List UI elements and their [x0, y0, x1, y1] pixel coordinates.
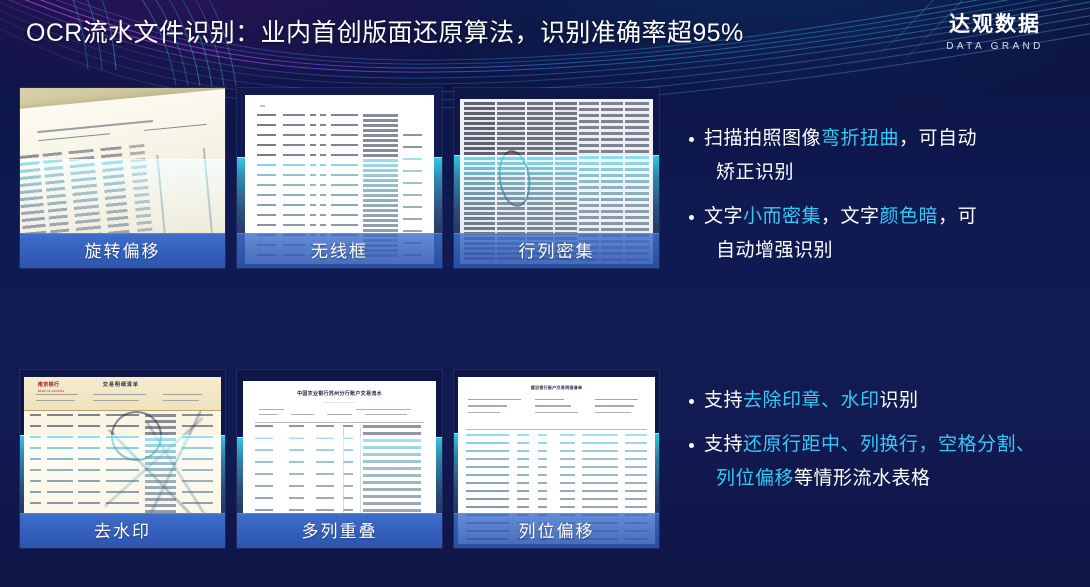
bullet-text-plain: 扫描拍照图像	[704, 128, 821, 149]
card-caption: 去水印	[20, 513, 225, 548]
bullet-line: 矫正识别	[704, 156, 1080, 190]
slide-header: OCR流水文件识别：业内首创版面还原算法，识别准确率超95% 达观数据 DATA…	[0, 0, 1090, 72]
page-title: OCR流水文件识别：业内首创版面还原算法，识别准确率超95%	[26, 17, 744, 50]
bullet-line: 列位偏移等情形流水表格	[704, 462, 1080, 496]
card-caption: 行列密集	[454, 233, 659, 268]
brand-logo: 达观数据 DATA GRAND	[920, 12, 1070, 55]
bullet-text-highlight: 列位偏移	[716, 468, 794, 489]
bullet-group-bottom: 支持去除印章、水印识别 支持还原行距中、列换行，空格分割、 列位偏移等情形流水表…	[688, 384, 1080, 506]
card-caption: 无线框	[237, 233, 442, 268]
bullet-text-plain: 矫正识别	[716, 162, 794, 183]
bullet-text-highlight: 去除印章、水印	[743, 390, 880, 411]
sample-card-overlapping-columns[interactable]: 中国农业银行苏州分行账户交易流水 ___________________	[237, 370, 442, 548]
bullet-text-highlight: 还原行距中、列换行，空格分割、	[743, 434, 1036, 455]
bullet-item-1: 文字小而密集，文字颜色暗，可 自动增强识别	[688, 200, 1080, 268]
bullet-item-2: 支持去除印章、水印识别	[688, 384, 1080, 418]
bullet-line: 支持去除印章、水印识别	[704, 384, 1080, 418]
bullet-text-highlight: 弯折扭曲	[821, 128, 899, 149]
thumb-bank-name-en: BANK OF NANJING	[38, 390, 65, 393]
bullet-group-top: 扫描拍照图像弯折扭曲，可自动 矫正识别 文字小而密集，文字颜色暗，可 自动增强识…	[688, 122, 1080, 278]
bullet-text-plain: 自动增强识别	[716, 240, 833, 261]
bullet-text-plain: 支持	[704, 434, 743, 455]
bullet-text-plain: ，可自动	[899, 128, 977, 149]
bullet-item-3: 支持还原行距中、列换行，空格分割、 列位偏移等情形流水表格	[688, 428, 1080, 496]
bullet-text-plain: ，文字	[821, 206, 880, 227]
bullet-text-plain: 识别	[880, 390, 919, 411]
thumb-bank-name-cn: 南京银行	[38, 381, 60, 388]
bullet-line: 支持还原行距中、列换行，空格分割、	[704, 428, 1080, 462]
card-caption: 列位偏移	[454, 513, 659, 548]
brand-name-en: DATA GRAND	[920, 39, 1070, 55]
bullet-text-highlight: 颜色暗	[880, 206, 939, 227]
sample-card-column-shift[interactable]: 建设银行账户交易明细清单	[454, 370, 659, 548]
thumb-abc-title: 中国农业银行苏州分行账户交易流水	[243, 390, 436, 397]
card-caption: 旋转偏移	[20, 233, 225, 268]
sample-card-borderless-table[interactable]: 无线框	[237, 88, 442, 268]
sample-card-remove-watermark[interactable]: 南京银行 BANK OF NANJING 交易明细清单	[20, 370, 225, 548]
bullet-item-0: 扫描拍照图像弯折扭曲，可自动 矫正识别	[688, 122, 1080, 190]
bullet-text-plain: 文字	[704, 206, 743, 227]
card-caption: 多列重叠	[237, 513, 442, 548]
sample-card-rotation-offset[interactable]: 旋转偏移	[20, 88, 225, 268]
bullet-line: 扫描拍照图像弯折扭曲，可自动	[704, 122, 1080, 156]
slide-root: OCR流水文件识别：业内首创版面还原算法，识别准确率超95% 达观数据 DATA…	[0, 0, 1090, 587]
thumb-doc-title: 交易明细清单	[103, 381, 139, 388]
brand-name-cn: 达观数据	[920, 12, 1070, 37]
bullet-text-highlight: 小而密集	[743, 206, 821, 227]
thumb-colshift-title: 建设银行账户交易明细清单	[458, 385, 655, 391]
sample-card-dense-rows-columns[interactable]: 行列密集	[454, 88, 659, 268]
bullet-line: 自动增强识别	[704, 234, 1080, 268]
bullet-text-plain: 支持	[704, 390, 743, 411]
bullet-line: 文字小而密集，文字颜色暗，可	[704, 200, 1080, 234]
bullet-text-plain: 等情形流水表格	[794, 468, 931, 489]
bullet-text-plain: ，可	[938, 206, 977, 227]
